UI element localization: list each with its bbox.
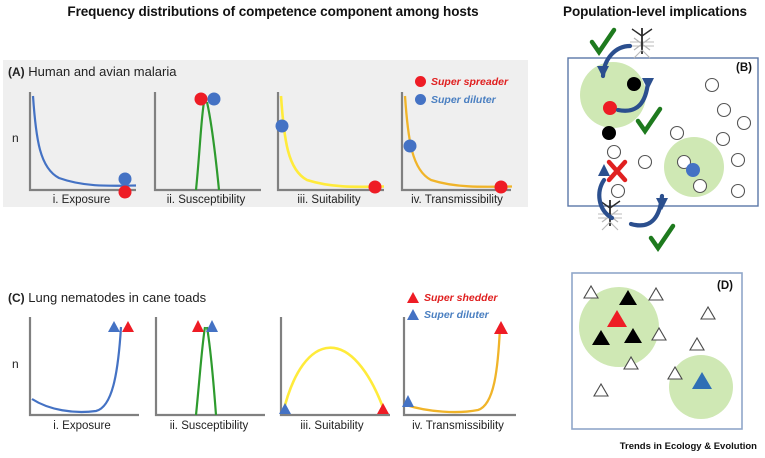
- chart-c-ii: [150, 315, 268, 420]
- legend-label: Super shedder: [424, 292, 498, 304]
- marker-super-diluter: [119, 173, 132, 186]
- marker-super-spreader: [495, 181, 508, 194]
- uninfected-host: [694, 180, 707, 193]
- panel-d: (D): [571, 272, 743, 430]
- red-circle-icon: [415, 76, 426, 87]
- panel-c-tag: (C): [8, 291, 25, 305]
- uninfected-host: [738, 117, 751, 130]
- panel-c-y-label: n: [12, 357, 19, 371]
- chart-c-i-xlabel: i. Exposure: [22, 420, 142, 432]
- marker-super-diluter: [206, 320, 218, 332]
- uninfected-host: [612, 185, 625, 198]
- transmission-halo-spreader: [580, 62, 646, 128]
- chart-a-ii: [149, 90, 264, 195]
- mosquito-icon-top: [630, 28, 654, 58]
- right-figure-title: Population-level implications: [546, 4, 764, 19]
- uninfected-host: [706, 79, 719, 92]
- panel-b: (B): [546, 20, 764, 258]
- distribution-curve: [32, 327, 121, 412]
- red-triangle-icon: [407, 292, 419, 303]
- focal-host-super-diluter: [686, 163, 700, 177]
- distribution-curve-left: [196, 327, 205, 415]
- legend-label: Super spreader: [431, 76, 508, 88]
- uninfected-host: [639, 156, 652, 169]
- panel-a-tag: (A): [8, 65, 25, 79]
- chart-axes: [402, 92, 511, 190]
- chart-axes: [281, 317, 390, 415]
- check-icon: [651, 226, 673, 248]
- chart-a-iv: [396, 90, 514, 195]
- chart-a-iii: [272, 90, 387, 195]
- marker-super-shedder: [122, 321, 134, 332]
- distribution-curve: [406, 327, 500, 412]
- distribution-curve: [33, 96, 136, 186]
- marker-super-shedder: [494, 321, 508, 334]
- marker-super-spreader: [195, 93, 208, 106]
- distribution-curve-right: [207, 327, 216, 415]
- journal-footer: Trends in Ecology & Evolution: [620, 441, 757, 452]
- chart-a-iii-xlabel: iii. Suitability: [270, 194, 388, 206]
- uninfected-host: [732, 154, 745, 167]
- marker-super-diluter: [208, 93, 221, 106]
- chart-a-i-xlabel: i. Exposure: [24, 194, 139, 206]
- chart-c-i: [24, 315, 142, 420]
- panel-d-tag: (D): [715, 280, 735, 292]
- marker-super-diluter: [276, 120, 289, 133]
- marker-super-diluter: [404, 140, 417, 153]
- legend-item-super-spreader: Super spreader: [415, 74, 508, 89]
- chart-a-iv-xlabel: iv. Transmissibility: [392, 194, 522, 206]
- chart-axes: [278, 92, 384, 190]
- chart-c-iii-xlabel: iii. Suitability: [272, 420, 392, 432]
- marker-super-shedder: [377, 403, 389, 414]
- uninfected-host: [608, 146, 621, 159]
- marker-super-spreader: [369, 181, 382, 194]
- left-figure-title: Frequency distributions of competence co…: [18, 4, 528, 19]
- legend-item-super-shedder: Super shedder: [407, 290, 498, 305]
- panel-a-title: Human and avian malaria: [28, 64, 176, 79]
- chart-a-i: [24, 90, 139, 195]
- uninfected-host: [717, 133, 730, 146]
- distribution-curve-left: [196, 102, 204, 190]
- distribution-curve-right: [207, 102, 219, 190]
- infected-host: [627, 77, 641, 91]
- chart-c-iv: [398, 315, 518, 420]
- distribution-curve: [405, 96, 512, 187]
- uninfected-host: [671, 127, 684, 140]
- distribution-curve: [283, 348, 385, 413]
- panel-b-tag: (B): [734, 62, 754, 74]
- infected-host: [602, 126, 616, 140]
- uninfected-host: [732, 185, 745, 198]
- check-icon: [592, 30, 614, 52]
- marker-super-shedder: [192, 320, 204, 332]
- panel-a-label: (A) Human and avian malaria: [8, 64, 176, 79]
- uninfected-host: [718, 104, 731, 117]
- distribution-curve: [281, 96, 384, 187]
- chart-c-ii-xlabel: ii. Susceptibility: [148, 420, 270, 432]
- marker-super-diluter: [108, 321, 120, 332]
- chart-a-ii-xlabel: ii. Susceptibility: [146, 194, 266, 206]
- chart-c-iv-xlabel: iv. Transmissibility: [392, 420, 524, 432]
- panel-c-label: (C) Lung nematodes in cane toads: [8, 290, 206, 305]
- chart-c-iii: [275, 315, 393, 420]
- panel-a-y-label: n: [12, 131, 19, 145]
- focal-host-super-spreader: [603, 101, 617, 115]
- panel-c-title: Lung nematodes in cane toads: [28, 290, 206, 305]
